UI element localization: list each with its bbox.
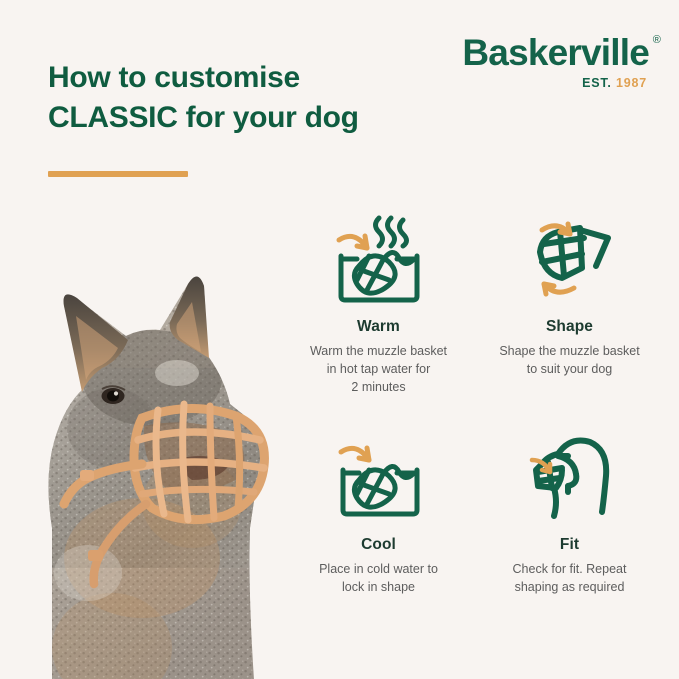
- registered-trademark-icon: ®: [653, 35, 660, 46]
- title-underline-rule: [48, 171, 188, 177]
- dog-head-fit-icon: [479, 424, 660, 532]
- step-desc-line: Place in cold water to: [296, 561, 461, 579]
- step-title: Warm: [288, 318, 469, 336]
- brand-wordmark: Baskerville ®: [462, 34, 649, 71]
- step-description: Check for fit. Repeat shaping as require…: [479, 561, 660, 597]
- step-desc-line: shaping as required: [487, 579, 652, 597]
- step-desc-line: Check for fit. Repeat: [487, 561, 652, 579]
- step-desc-line: Shape the muzzle basket: [487, 343, 652, 361]
- step-title: Fit: [479, 536, 660, 554]
- steps-grid: Warm Warm the muzzle basket in hot tap w…: [288, 206, 660, 597]
- brand-est-year: 1987: [616, 76, 647, 90]
- page-title-line-2: CLASSIC for your dog: [48, 98, 408, 138]
- infographic-root: How to customise CLASSIC for your dog Ba…: [0, 0, 679, 679]
- step-shape: Shape Shape the muzzle basket to suit yo…: [479, 206, 660, 396]
- step-fit: Fit Check for fit. Repeat shaping as req…: [479, 424, 660, 597]
- step-desc-line: to suit your dog: [487, 361, 652, 379]
- step-cool: Cool Place in cold water to lock in shap…: [288, 424, 469, 597]
- step-warm: Warm Warm the muzzle basket in hot tap w…: [288, 206, 469, 396]
- step-desc-line: 2 minutes: [296, 379, 461, 397]
- dog-photo: [0, 228, 277, 679]
- page-title: How to customise CLASSIC for your dog: [48, 58, 408, 138]
- step-desc-line: Warm the muzzle basket: [296, 343, 461, 361]
- brand-est-label: EST.: [582, 76, 612, 90]
- step-description: Place in cold water to lock in shape: [288, 561, 469, 597]
- muzzle-shaping-arrows-icon: [479, 206, 660, 314]
- step-description: Shape the muzzle basket to suit your dog: [479, 343, 660, 379]
- brand-logo: Baskerville ® EST. 1987: [419, 34, 649, 90]
- step-title: Shape: [479, 318, 660, 336]
- brand-wordmark-text: Baskerville: [462, 32, 649, 73]
- step-desc-line: in hot tap water for: [296, 361, 461, 379]
- page-title-line-1: How to customise: [48, 58, 408, 98]
- step-title: Cool: [288, 536, 469, 554]
- step-desc-line: lock in shape: [296, 579, 461, 597]
- basin-with-steam-icon: [288, 206, 469, 314]
- step-description: Warm the muzzle basket in hot tap water …: [288, 343, 469, 396]
- brand-established: EST. 1987: [419, 76, 647, 90]
- basin-cold-water-icon: [288, 424, 469, 532]
